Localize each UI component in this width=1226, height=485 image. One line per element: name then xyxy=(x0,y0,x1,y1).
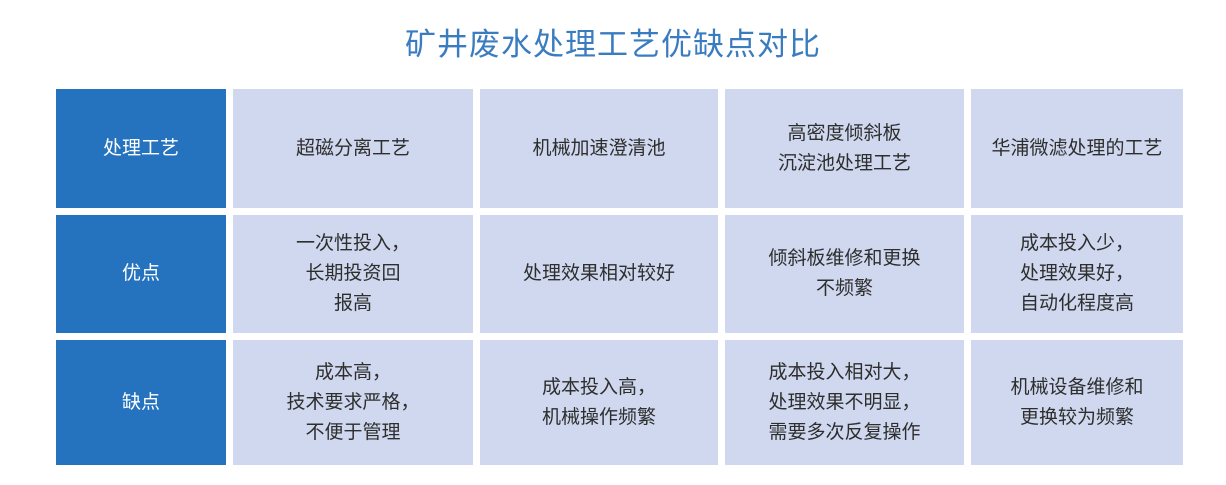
cell-pros-column-1: 一次性投入， 长期投资回 报高 xyxy=(233,215,473,333)
comparison-table: 处理工艺 超磁分离工艺 机械加速澄清池 高密度倾斜板 沉淀池处理工艺 华浦微滤处… xyxy=(56,89,1176,465)
table-row-cons: 缺点 成本高， 技术要求严格， 不便于管理 成本投入高， 机械操作频繁 成本投入… xyxy=(56,340,1176,465)
cell-cons-column-4: 机械设备维修和 更换较为频繁 xyxy=(971,340,1183,465)
cell-cons-column-2: 成本投入高， 机械操作频繁 xyxy=(480,340,718,465)
page-title: 矿井废水处理工艺优缺点对比 xyxy=(0,26,1226,64)
cell-pros-column-2: 处理效果相对较好 xyxy=(480,215,718,333)
header-cell-column-3: 高密度倾斜板 沉淀池处理工艺 xyxy=(725,89,964,208)
header-cell-column-4: 华浦微滤处理的工艺 xyxy=(971,89,1183,208)
row-label-pros: 优点 xyxy=(56,215,226,333)
cell-cons-column-3: 成本投入相对大， 处理效果不明显， 需要多次反复操作 xyxy=(725,340,964,465)
header-cell-column-2: 机械加速澄清池 xyxy=(480,89,718,208)
table-row-pros: 优点 一次性投入， 长期投资回 报高 处理效果相对较好 倾斜板维修和更换 不频繁… xyxy=(56,215,1176,333)
header-cell-process: 处理工艺 xyxy=(56,89,226,208)
cell-pros-column-3: 倾斜板维修和更换 不频繁 xyxy=(725,215,964,333)
row-label-cons: 缺点 xyxy=(56,340,226,465)
header-cell-column-1: 超磁分离工艺 xyxy=(233,89,473,208)
cell-cons-column-1: 成本高， 技术要求严格， 不便于管理 xyxy=(233,340,473,465)
comparison-table-page: 矿井废水处理工艺优缺点对比 处理工艺 超磁分离工艺 机械加速澄清池 高密度倾斜板… xyxy=(0,0,1226,485)
cell-pros-column-4: 成本投入少， 处理效果好， 自动化程度高 xyxy=(971,215,1183,333)
table-header-row: 处理工艺 超磁分离工艺 机械加速澄清池 高密度倾斜板 沉淀池处理工艺 华浦微滤处… xyxy=(56,89,1176,208)
